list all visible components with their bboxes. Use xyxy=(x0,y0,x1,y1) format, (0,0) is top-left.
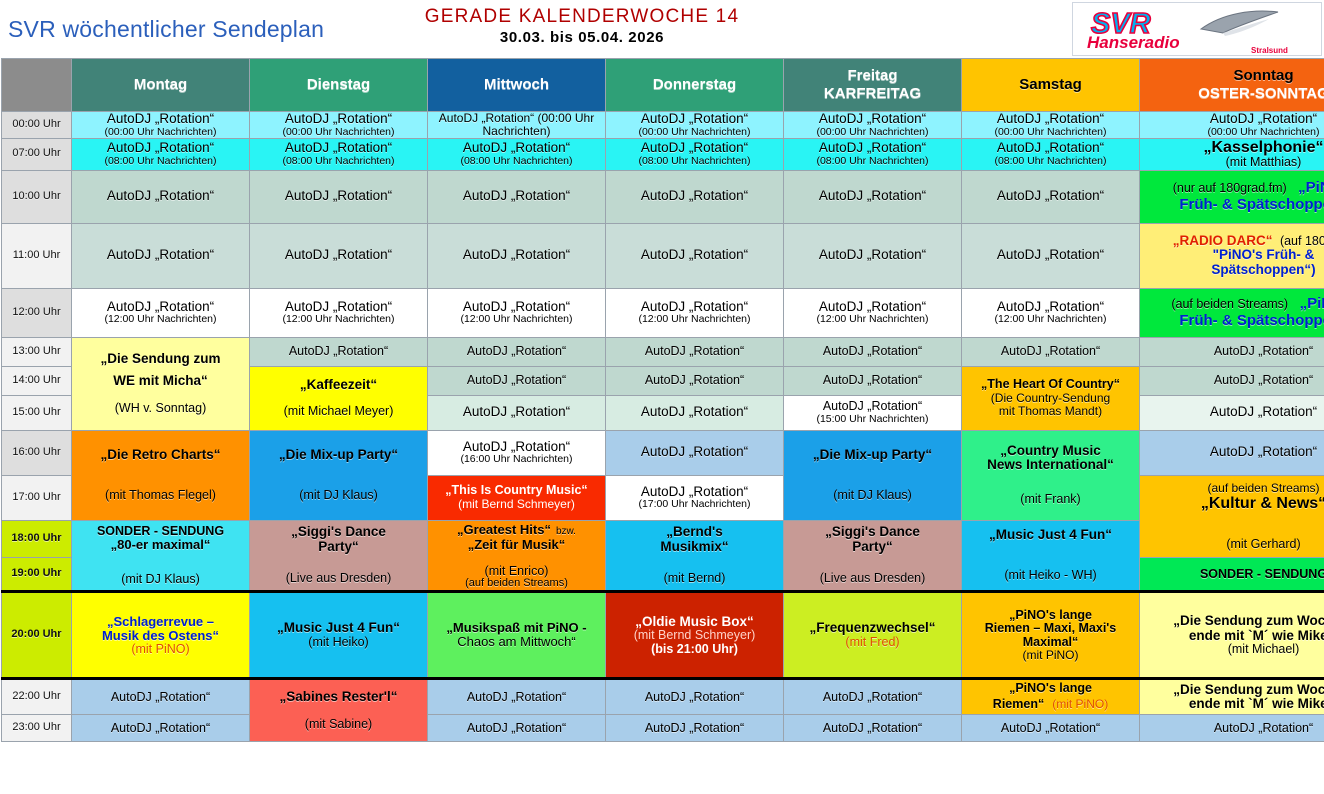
program-host: (mit Frank) xyxy=(962,493,1139,507)
cell-mon-2300[interactable]: AutoDJ „Rotation“ xyxy=(72,715,250,742)
program-title-line: Riemen“(mit PiNO) xyxy=(962,695,1139,712)
program-note-line: (nur auf 180grad.fm) „PiNO's xyxy=(1140,180,1324,196)
cell-sam-1300[interactable]: AutoDJ „Rotation“ xyxy=(962,337,1140,366)
program-host: (mit Sabine) xyxy=(250,718,427,732)
cell-sam-1100[interactable]: AutoDJ „Rotation“ xyxy=(962,223,1140,288)
program-title-line: „Greatest Hits“bzw. xyxy=(428,521,605,538)
cell-sam-0700[interactable]: AutoDJ „Rotation“ (08:00 Uhr Nachrichten… xyxy=(962,138,1140,170)
program-note: (08:00 Uhr Nachrichten) xyxy=(72,156,249,167)
program-host: (mit DJ Klaus) xyxy=(72,573,249,587)
cell-son-0700[interactable]: „Kasselphonie“ (mit Matthias) xyxy=(1140,138,1324,170)
program-title-2: „80-er maximal“ xyxy=(72,538,249,552)
program-title: „Die Sendung zum Wochen- xyxy=(1140,683,1324,698)
cell-die-0700[interactable]: AutoDJ „Rotation“ (08:00 Uhr Nachrichten… xyxy=(250,138,428,170)
program-title: AutoDJ „Rotation“ xyxy=(606,485,783,500)
program-title: AutoDJ „Rotation“ xyxy=(606,248,783,263)
day-label: Donnerstag xyxy=(653,76,736,93)
program-title: AutoDJ „Rotation“ xyxy=(72,248,249,263)
program-title-2: Riemen – Maxi, Maxi's xyxy=(962,622,1139,636)
cell-die-2000[interactable]: „Music Just 4 Fun“ (mit Heiko) xyxy=(250,592,428,679)
program-title-2: Musikmix“ xyxy=(606,540,783,555)
program-title: AutoDJ „Rotation“ xyxy=(1140,405,1324,420)
cell-don-1800[interactable]: „Bernd's Musikmix“ (mit Bernd) xyxy=(606,520,784,592)
cell-fre-0700[interactable]: AutoDJ „Rotation“ (08:00 Uhr Nachrichten… xyxy=(784,138,962,170)
row-1200: 12:00 Uhr AutoDJ „Rotation“ (12:00 Uhr N… xyxy=(2,288,1324,337)
cell-son-1700[interactable]: (auf beiden Streams) „Kultur & News“ (mi… xyxy=(1140,475,1324,558)
time-label-0700: 07:00 Uhr xyxy=(2,138,72,170)
cell-mon-1600[interactable]: „Die Retro Charts“ (mit Thomas Flegel) xyxy=(72,430,250,520)
program-title: „Siggi's Dance xyxy=(250,525,427,540)
program-note: (08:00 Uhr Nachrichten) xyxy=(606,156,783,167)
time-label-1800: 18:00 Uhr xyxy=(2,520,72,558)
cell-fre-0000[interactable]: AutoDJ „Rotation“ (00:00 Uhr Nachrichten… xyxy=(784,112,962,139)
logo-city-text: Stralsund xyxy=(1251,46,1288,55)
cell-die-1400[interactable]: „Kaffeezeit“ (mit Michael Meyer) xyxy=(250,366,428,430)
program-title: AutoDJ „Rotation“ xyxy=(606,345,783,359)
cell-mit-1000[interactable]: AutoDJ „Rotation“ xyxy=(428,170,606,223)
program-title-2: WE mit Micha“ xyxy=(72,374,249,389)
program-title: „This Is Country Music“ xyxy=(428,484,605,498)
cell-son-2300[interactable]: AutoDJ „Rotation“ xyxy=(1140,715,1324,742)
program-note-line: „RADIO DARC“ (auf 180grad: xyxy=(1140,234,1324,249)
program-host: (mit Bernd Schmeyer) xyxy=(428,498,605,511)
program-title: „Musikspaß mit PiNO - xyxy=(428,621,605,635)
day-label: Freitag xyxy=(847,67,897,84)
schedule-table: Montag Dienstag Mittwoch Donnerstag Frei… xyxy=(1,58,1324,742)
program-host: (mit Bernd Schmeyer) xyxy=(606,629,783,643)
program-title: AutoDJ „Rotation“ xyxy=(72,141,249,156)
time-label-1200: 12:00 Uhr xyxy=(2,288,72,337)
cell-don-0700[interactable]: AutoDJ „Rotation“ (08:00 Uhr Nachrichten… xyxy=(606,138,784,170)
day-header-sonntag[interactable]: Sonntag OSTER-SONNTAG xyxy=(1140,59,1324,112)
program-title: „Die Retro Charts“ xyxy=(72,448,249,463)
program-title: AutoDJ „Rotation“ xyxy=(428,248,605,263)
cell-don-1200[interactable]: AutoDJ „Rotation“ (12:00 Uhr Nachrichten… xyxy=(606,288,784,337)
program-title-2: Früh- & Spätschoppen“ xyxy=(1140,313,1324,329)
row-1600: 16:00 Uhr „Die Retro Charts“ (mit Thomas… xyxy=(2,430,1324,475)
cell-mit-1400[interactable]: AutoDJ „Rotation“ xyxy=(428,366,606,395)
program-title: „Music Just 4 Fun“ xyxy=(962,528,1139,543)
cell-fre-2000[interactable]: „Frequenzwechsel“ (mit Fred) xyxy=(784,592,962,679)
row-2200: 22:00 Uhr AutoDJ „Rotation“ „Sabines Res… xyxy=(2,679,1324,715)
program-note: (12:00 Uhr Nachrichten) xyxy=(962,314,1139,325)
program-title: AutoDJ „Rotation“ xyxy=(250,345,427,359)
program-title: AutoDJ „Rotation“ xyxy=(250,189,427,204)
program-note: (12:00 Uhr Nachrichten) xyxy=(428,314,605,325)
program-title: AutoDJ „Rotation“ xyxy=(72,722,249,736)
program-note: (08:00 Uhr Nachrichten) xyxy=(250,156,427,167)
program-host: (mit PiNO) xyxy=(962,649,1139,662)
day-header-row: Montag Dienstag Mittwoch Donnerstag Frei… xyxy=(2,59,1324,112)
program-host: (mit Matthias) xyxy=(1140,156,1324,170)
cell-fre-2200[interactable]: AutoDJ „Rotation“ xyxy=(784,679,962,715)
cell-fre-1100[interactable]: AutoDJ „Rotation“ xyxy=(784,223,962,288)
cell-don-2000[interactable]: „Oldie Music Box“ (mit Bernd Schmeyer) (… xyxy=(606,592,784,679)
program-title: AutoDJ „Rotation“ xyxy=(606,112,783,127)
program-title: AutoDJ „Rotation“ xyxy=(1140,112,1324,127)
program-title: „PiNO's xyxy=(1300,295,1324,312)
program-title: „RADIO DARC“ xyxy=(1173,233,1273,248)
logo-sub-text: Hanseradio xyxy=(1087,33,1180,52)
program-note: (08:00 Uhr Nachrichten) xyxy=(784,156,961,167)
cell-son-1300[interactable]: AutoDJ „Rotation“ xyxy=(1140,337,1324,366)
row-0000: 00:00 Uhr AutoDJ „Rotation“ (00:00 Uhr N… xyxy=(2,112,1324,139)
program-title: „Die Sendung zum xyxy=(72,352,249,367)
time-label-1600: 16:00 Uhr xyxy=(2,430,72,475)
program-note: (00:00 Uhr Nachrichten) xyxy=(962,127,1139,138)
day-special-label: OSTER-SONNTAG xyxy=(1140,86,1324,102)
cell-mit-2200[interactable]: AutoDJ „Rotation“ xyxy=(428,679,606,715)
program-note: (08:00 Uhr Nachrichten) xyxy=(962,156,1139,167)
cell-fre-1800[interactable]: „Siggi's Dance Party“ (Live aus Dresden) xyxy=(784,520,962,592)
program-title: AutoDJ „Rotation“ xyxy=(784,345,961,359)
program-title-2: ende mit `M´ wie Mikel“ xyxy=(1140,697,1324,712)
program-title: „PiNO's lange xyxy=(962,609,1139,623)
logo-icon: SVR Hanseradio Stralsund xyxy=(1073,3,1321,55)
program-title: AutoDJ „Rotation“ xyxy=(962,141,1139,156)
cell-die-0000[interactable]: AutoDJ „Rotation“ (00:00 Uhr Nachrichten… xyxy=(250,112,428,139)
row-0700: 07:00 Uhr AutoDJ „Rotation“ (08:00 Uhr N… xyxy=(2,138,1324,170)
cell-mit-1300[interactable]: AutoDJ „Rotation“ xyxy=(428,337,606,366)
cell-don-1700[interactable]: AutoDJ „Rotation“ (17:00 Uhr Nachrichten… xyxy=(606,475,784,520)
day-label: Samstag xyxy=(1019,76,1082,93)
program-title: AutoDJ „Rotation“ xyxy=(962,722,1139,736)
program-note: (08:00 Uhr Nachrichten) xyxy=(428,156,605,167)
program-host: (Live aus Dresden) xyxy=(250,572,427,586)
time-label-2300: 23:00 Uhr xyxy=(2,715,72,742)
program-title-2: Riemen“ xyxy=(993,697,1044,711)
program-title: „Schlagerrevue – xyxy=(72,615,249,629)
program-title-2: "PiNO's Früh- & xyxy=(1140,248,1324,263)
day-header-freitag[interactable]: Freitag KARFREITAG xyxy=(784,59,962,112)
program-title: „Die Mix-up Party“ xyxy=(250,448,427,463)
cell-mon-2200[interactable]: AutoDJ „Rotation“ xyxy=(72,679,250,715)
svr-hanseradio-logo: SVR Hanseradio Stralsund xyxy=(1072,2,1322,56)
cell-son-1600[interactable]: AutoDJ „Rotation“ xyxy=(1140,430,1324,475)
program-title: AutoDJ „Rotation“ xyxy=(784,300,961,315)
program-title: „Kaffeezeit“ xyxy=(250,378,427,393)
cell-fre-1400[interactable]: AutoDJ „Rotation“ xyxy=(784,366,962,395)
program-host: (mit Michael Meyer) xyxy=(250,405,427,419)
program-title: AutoDJ „Rotation“ xyxy=(606,722,783,736)
program-note: (nur auf 180grad.fm) xyxy=(1173,181,1287,195)
row-1000: 10:00 Uhr AutoDJ „Rotation“ AutoDJ „Rota… xyxy=(2,170,1324,223)
cell-mon-1300[interactable]: „Die Sendung zum WE mit Micha“ (WH v. So… xyxy=(72,337,250,430)
program-title: AutoDJ „Rotation“ xyxy=(784,722,961,736)
cell-fre-2300[interactable]: AutoDJ „Rotation“ xyxy=(784,715,962,742)
cell-fre-1600[interactable]: „Die Mix-up Party“ (mit DJ Klaus) xyxy=(784,430,962,520)
program-title: AutoDJ „Rotation“ xyxy=(1140,345,1324,359)
time-label-1700: 17:00 Uhr xyxy=(2,475,72,520)
program-title: „Greatest Hits“ xyxy=(457,522,551,537)
cell-die-1800[interactable]: „Siggi's Dance Party“ (Live aus Dresden) xyxy=(250,520,428,592)
cell-mon-0700[interactable]: AutoDJ „Rotation“ (08:00 Uhr Nachrichten… xyxy=(72,138,250,170)
program-title: „Die Sendung zum Wochen- xyxy=(1140,614,1324,629)
time-label-1100: 11:00 Uhr xyxy=(2,223,72,288)
cell-sam-1400[interactable]: „The Heart Of Country“ (Die Country-Send… xyxy=(962,366,1140,430)
program-title: AutoDJ „Rotation“ xyxy=(428,189,605,204)
program-note: (16:00 Uhr Nachrichten) xyxy=(428,454,605,465)
cell-die-1100[interactable]: AutoDJ „Rotation“ xyxy=(250,223,428,288)
program-title: AutoDJ „Rotation“ xyxy=(428,300,605,315)
cell-die-1200[interactable]: AutoDJ „Rotation“ (12:00 Uhr Nachrichten… xyxy=(250,288,428,337)
program-note: (00:00 Uhr Nachrichten) xyxy=(606,127,783,138)
program-title: AutoDJ „Rotation“ xyxy=(428,722,605,736)
cell-fre-1200[interactable]: AutoDJ „Rotation“ (12:00 Uhr Nachrichten… xyxy=(784,288,962,337)
program-host: (mit Fred) xyxy=(784,636,961,650)
program-title: AutoDJ „Rotation“ xyxy=(428,141,605,156)
program-host: mit Thomas Mandt) xyxy=(962,405,1139,418)
corner-cell xyxy=(2,59,72,112)
program-note: (bis 21:00 Uhr) xyxy=(606,643,783,657)
program-title: „Kultur & News“ xyxy=(1140,495,1324,512)
cell-sam-1800[interactable]: „Music Just 4 Fun“ (mit Heiko - WH) xyxy=(962,520,1140,592)
program-note-line: (auf beiden Streams) „PiNO's xyxy=(1140,296,1324,312)
program-title: AutoDJ „Rotation“ xyxy=(962,112,1139,127)
program-host: (mit Thomas Flegel) xyxy=(72,489,249,503)
program-note: (12:00 Uhr Nachrichten) xyxy=(606,314,783,325)
program-note: (auf beiden Streams) xyxy=(428,578,605,590)
program-title: AutoDJ „Rotation“ xyxy=(962,248,1139,263)
cell-don-0000[interactable]: AutoDJ „Rotation“ (00:00 Uhr Nachrichten… xyxy=(606,112,784,139)
program-host: (mit PiNO) xyxy=(1052,697,1108,711)
program-title: AutoDJ „Rotation“ xyxy=(250,300,427,315)
cell-mit-2300[interactable]: AutoDJ „Rotation“ xyxy=(428,715,606,742)
cell-son-1200[interactable]: (auf beiden Streams) „PiNO's Früh- & Spä… xyxy=(1140,288,1324,337)
program-title: AutoDJ „Rotation“ xyxy=(428,374,605,388)
time-label-1300: 13:00 Uhr xyxy=(2,337,72,366)
cell-fre-1300[interactable]: AutoDJ „Rotation“ xyxy=(784,337,962,366)
program-title: AutoDJ „Rotation“ xyxy=(1140,722,1324,736)
program-title: „Sabines Rester'l“ xyxy=(250,690,427,705)
program-title: AutoDJ „Rotation“ xyxy=(962,345,1139,359)
cell-son-1400[interactable]: AutoDJ „Rotation“ xyxy=(1140,366,1324,395)
program-title: AutoDJ „Rotation“ xyxy=(428,405,605,420)
program-title-3: Spätschoppen“) xyxy=(1140,263,1324,278)
program-note: (00:00 Uhr Nachrichten) xyxy=(1140,127,1324,138)
program-host: (mit Heiko) xyxy=(250,636,427,650)
program-title-2: Party“ xyxy=(784,540,961,555)
program-title-3: Maximal“ xyxy=(962,636,1139,650)
program-note: (12:00 Uhr Nachrichten) xyxy=(250,314,427,325)
program-title: AutoDJ „Rotation“ xyxy=(962,300,1139,315)
program-host: (mit PiNO) xyxy=(72,643,249,657)
time-label-2200: 22:00 Uhr xyxy=(2,679,72,715)
program-title: AutoDJ „Rotation“ xyxy=(784,141,961,156)
cell-son-1000[interactable]: (nur auf 180grad.fm) „PiNO's Früh- & Spä… xyxy=(1140,170,1324,223)
cell-don-1100[interactable]: AutoDJ „Rotation“ xyxy=(606,223,784,288)
program-note: (00:00 Uhr Nachrichten) xyxy=(784,127,961,138)
program-title: „Bernd's xyxy=(606,525,783,540)
cell-sam-0000[interactable]: AutoDJ „Rotation“ (00:00 Uhr Nachrichten… xyxy=(962,112,1140,139)
program-host: (mit Bernd) xyxy=(606,572,783,586)
cell-mon-1100[interactable]: AutoDJ „Rotation“ xyxy=(72,223,250,288)
row-2000: 20:00 Uhr „Schlagerrevue – Musik des Ost… xyxy=(2,592,1324,679)
cell-die-1000[interactable]: AutoDJ „Rotation“ xyxy=(250,170,428,223)
program-title: AutoDJ „Rotation“ (00:00 Uhr Nachrichten… xyxy=(428,112,605,138)
cell-mon-2000[interactable]: „Schlagerrevue – Musik des Ostens“ (mit … xyxy=(72,592,250,679)
day-header-samstag[interactable]: Samstag xyxy=(962,59,1140,112)
program-note: (12:00 Uhr Nachrichten) xyxy=(784,314,961,325)
cell-die-1600[interactable]: „Die Mix-up Party“ (mit DJ Klaus) xyxy=(250,430,428,520)
program-note: (auf 180grad: xyxy=(1280,234,1324,248)
program-title: AutoDJ „Rotation“ xyxy=(784,248,961,263)
program-title: AutoDJ „Rotation“ xyxy=(784,112,961,127)
cell-son-1900[interactable]: SONDER - SENDUNG xyxy=(1140,558,1324,592)
time-label-2000: 20:00 Uhr xyxy=(2,592,72,679)
cell-die-2200[interactable]: „Sabines Rester'l“ (mit Sabine) xyxy=(250,679,428,742)
cell-mon-1800[interactable]: SONDER - SENDUNG „80-er maximal“ (mit DJ… xyxy=(72,520,250,592)
program-title: „Frequenzwechsel“ xyxy=(784,621,961,636)
program-note: (00:00 Uhr Nachrichten) xyxy=(250,127,427,138)
program-title: AutoDJ „Rotation“ xyxy=(606,374,783,388)
program-title-2: ende mit `M´ wie Mikel“ xyxy=(1140,629,1324,644)
cell-mit-1600[interactable]: AutoDJ „Rotation“ (16:00 Uhr Nachrichten… xyxy=(428,430,606,475)
program-title: AutoDJ „Rotation“ xyxy=(250,141,427,156)
time-label-1500: 15:00 Uhr xyxy=(2,395,72,430)
program-title: AutoDJ „Rotation“ xyxy=(72,300,249,315)
program-title: „PiNO's xyxy=(1298,179,1324,196)
program-title: AutoDJ „Rotation“ xyxy=(606,405,783,420)
program-title: „Country Music xyxy=(962,444,1139,459)
day-label: Montag xyxy=(134,76,187,93)
cell-don-1500[interactable]: AutoDJ „Rotation“ xyxy=(606,395,784,430)
cell-sam-2000[interactable]: „PiNO's lange Riemen – Maxi, Maxi's Maxi… xyxy=(962,592,1140,679)
day-label: Sonntag xyxy=(1234,67,1294,84)
program-host: (mit Michael) xyxy=(1140,643,1324,657)
cell-mit-1100[interactable]: AutoDJ „Rotation“ xyxy=(428,223,606,288)
time-label-1400: 14:00 Uhr xyxy=(2,366,72,395)
day-special-label: KARFREITAG xyxy=(784,86,961,102)
cell-sam-1600[interactable]: „Country Music News International“ (mit … xyxy=(962,430,1140,520)
program-title: „PiNO's lange xyxy=(962,682,1139,696)
program-title: AutoDJ „Rotation“ xyxy=(72,691,249,705)
time-label-1900: 19:00 Uhr xyxy=(2,558,72,592)
program-title-2: Musik des Ostens“ xyxy=(72,629,249,643)
program-title: „Oldie Music Box“ xyxy=(606,615,783,630)
row-1100: 11:00 Uhr AutoDJ „Rotation“ AutoDJ „Rota… xyxy=(2,223,1324,288)
cell-don-1300[interactable]: AutoDJ „Rotation“ xyxy=(606,337,784,366)
cell-mit-2000[interactable]: „Musikspaß mit PiNO - Chaos am Mittwoch“ xyxy=(428,592,606,679)
row-2300: 23:00 Uhr AutoDJ „Rotation“ AutoDJ „Rota… xyxy=(2,715,1324,742)
program-title: AutoDJ „Rotation“ xyxy=(784,374,961,388)
cell-son-1500[interactable]: AutoDJ „Rotation“ xyxy=(1140,395,1324,430)
program-host: (mit DJ Klaus) xyxy=(784,489,961,503)
program-title: SONDER - SENDUNG xyxy=(72,525,249,539)
program-host: (Live aus Dresden) xyxy=(784,572,961,586)
program-title: „Music Just 4 Fun“ xyxy=(250,621,427,636)
cell-don-2300[interactable]: AutoDJ „Rotation“ xyxy=(606,715,784,742)
cell-mon-1000[interactable]: AutoDJ „Rotation“ xyxy=(72,170,250,223)
cell-fre-1500[interactable]: AutoDJ „Rotation“ (15:00 Uhr Nachrichten… xyxy=(784,395,962,430)
program-title: SONDER - SENDUNG xyxy=(1140,568,1324,582)
time-label-1000: 10:00 Uhr xyxy=(2,170,72,223)
program-host: (mit Gerhard) xyxy=(1140,538,1324,552)
program-title: AutoDJ „Rotation“ xyxy=(428,345,605,359)
cell-son-0000[interactable]: AutoDJ „Rotation“ (00:00 Uhr Nachrichten… xyxy=(1140,112,1324,139)
program-title-2: Früh- & Spätschoppen“ xyxy=(1140,197,1324,213)
program-note: (auf beiden Streams) xyxy=(1140,482,1324,495)
program-title: AutoDJ „Rotation“ xyxy=(606,189,783,204)
program-title: „Siggi's Dance xyxy=(784,525,961,540)
program-title: AutoDJ „Rotation“ xyxy=(784,400,961,414)
program-alt-marker: bzw. xyxy=(556,526,576,537)
day-header-dienstag[interactable]: Dienstag xyxy=(250,59,428,112)
day-label: Dienstag xyxy=(307,76,370,93)
day-header-mittwoch[interactable]: Mittwoch xyxy=(428,59,606,112)
program-title: AutoDJ „Rotation“ xyxy=(784,189,961,204)
cell-sam-2300[interactable]: AutoDJ „Rotation“ xyxy=(962,715,1140,742)
program-host: (mit Heiko - WH) xyxy=(962,569,1139,583)
program-note: (Die Country-Sendung xyxy=(962,392,1139,405)
cell-mit-1700[interactable]: „This Is Country Music“ (mit Bernd Schme… xyxy=(428,475,606,520)
program-title: AutoDJ „Rotation“ xyxy=(606,445,783,460)
program-title: AutoDJ „Rotation“ xyxy=(250,112,427,127)
cell-don-1600[interactable]: AutoDJ „Rotation“ xyxy=(606,430,784,475)
cell-mit-1500[interactable]: AutoDJ „Rotation“ xyxy=(428,395,606,430)
cell-mon-1200[interactable]: AutoDJ „Rotation“ (12:00 Uhr Nachrichten… xyxy=(72,288,250,337)
program-title-2: „Zeit für Musik“ xyxy=(428,538,605,552)
cell-son-2000[interactable]: „Die Sendung zum Wochen- ende mit `M´ wi… xyxy=(1140,592,1324,679)
program-title-2: Party“ xyxy=(250,540,427,555)
program-note: (12:00 Uhr Nachrichten) xyxy=(72,314,249,325)
row-1800: 18:00 Uhr SONDER - SENDUNG „80-er maxima… xyxy=(2,520,1324,558)
program-title: AutoDJ „Rotation“ xyxy=(606,300,783,315)
cell-sam-2200[interactable]: „PiNO's lange Riemen“(mit PiNO) xyxy=(962,679,1140,715)
program-title: AutoDJ „Rotation“ xyxy=(428,440,605,455)
program-host: (mit Enrico) xyxy=(428,565,605,579)
program-note: (WH v. Sonntag) xyxy=(72,402,249,416)
program-title: AutoDJ „Rotation“ xyxy=(606,141,783,156)
program-title: AutoDJ „Rotation“ xyxy=(1140,374,1324,388)
cell-son-2200[interactable]: „Die Sendung zum Wochen- ende mit `M´ wi… xyxy=(1140,679,1324,715)
program-title: AutoDJ „Rotation“ xyxy=(72,112,249,127)
day-label: Mittwoch xyxy=(484,76,549,93)
program-title: AutoDJ „Rotation“ xyxy=(784,691,961,705)
program-title: AutoDJ „Rotation“ xyxy=(1140,445,1324,460)
program-note: (auf beiden Streams) xyxy=(1171,297,1288,311)
program-title: „The Heart Of Country“ xyxy=(962,378,1139,392)
program-title: AutoDJ „Rotation“ xyxy=(962,189,1139,204)
schedule-page: SVR wöchentlicher Sendeplan GERADE KALEN… xyxy=(0,0,1324,794)
row-1300: 13:00 Uhr „Die Sendung zum WE mit Micha“… xyxy=(2,337,1324,366)
program-note: (15:00 Uhr Nachrichten) xyxy=(784,414,961,425)
cell-sam-1200[interactable]: AutoDJ „Rotation“ (12:00 Uhr Nachrichten… xyxy=(962,288,1140,337)
program-note: (17:00 Uhr Nachrichten) xyxy=(606,499,783,510)
cell-mit-0700[interactable]: AutoDJ „Rotation“ (08:00 Uhr Nachrichten… xyxy=(428,138,606,170)
program-title: AutoDJ „Rotation“ xyxy=(606,691,783,705)
cell-mit-1200[interactable]: AutoDJ „Rotation“ (12:00 Uhr Nachrichten… xyxy=(428,288,606,337)
cell-mit-1800[interactable]: „Greatest Hits“bzw. „Zeit für Musik“ (mi… xyxy=(428,520,606,592)
page-banner: SVR wöchentlicher Sendeplan GERADE KALEN… xyxy=(0,0,1324,58)
cell-don-2200[interactable]: AutoDJ „Rotation“ xyxy=(606,679,784,715)
cell-fre-1000[interactable]: AutoDJ „Rotation“ xyxy=(784,170,962,223)
cell-don-1000[interactable]: AutoDJ „Rotation“ xyxy=(606,170,784,223)
day-header-donnerstag[interactable]: Donnerstag xyxy=(606,59,784,112)
cell-mit-0000[interactable]: AutoDJ „Rotation“ (00:00 Uhr Nachrichten… xyxy=(428,112,606,139)
program-title: AutoDJ „Rotation“ xyxy=(428,691,605,705)
cell-mon-0000[interactable]: AutoDJ „Rotation“ (00:00 Uhr Nachrichten… xyxy=(72,112,250,139)
cell-son-1100[interactable]: „RADIO DARC“ (auf 180grad: "PiNO's Früh-… xyxy=(1140,223,1324,288)
cell-sam-1000[interactable]: AutoDJ „Rotation“ xyxy=(962,170,1140,223)
day-header-montag[interactable]: Montag xyxy=(72,59,250,112)
cell-don-1400[interactable]: AutoDJ „Rotation“ xyxy=(606,366,784,395)
cell-die-1300[interactable]: AutoDJ „Rotation“ xyxy=(250,337,428,366)
program-title-2: News International“ xyxy=(962,458,1139,473)
time-label-0000: 00:00 Uhr xyxy=(2,112,72,139)
program-title-2: Chaos am Mittwoch“ xyxy=(428,635,605,649)
program-title: AutoDJ „Rotation“ xyxy=(250,248,427,263)
